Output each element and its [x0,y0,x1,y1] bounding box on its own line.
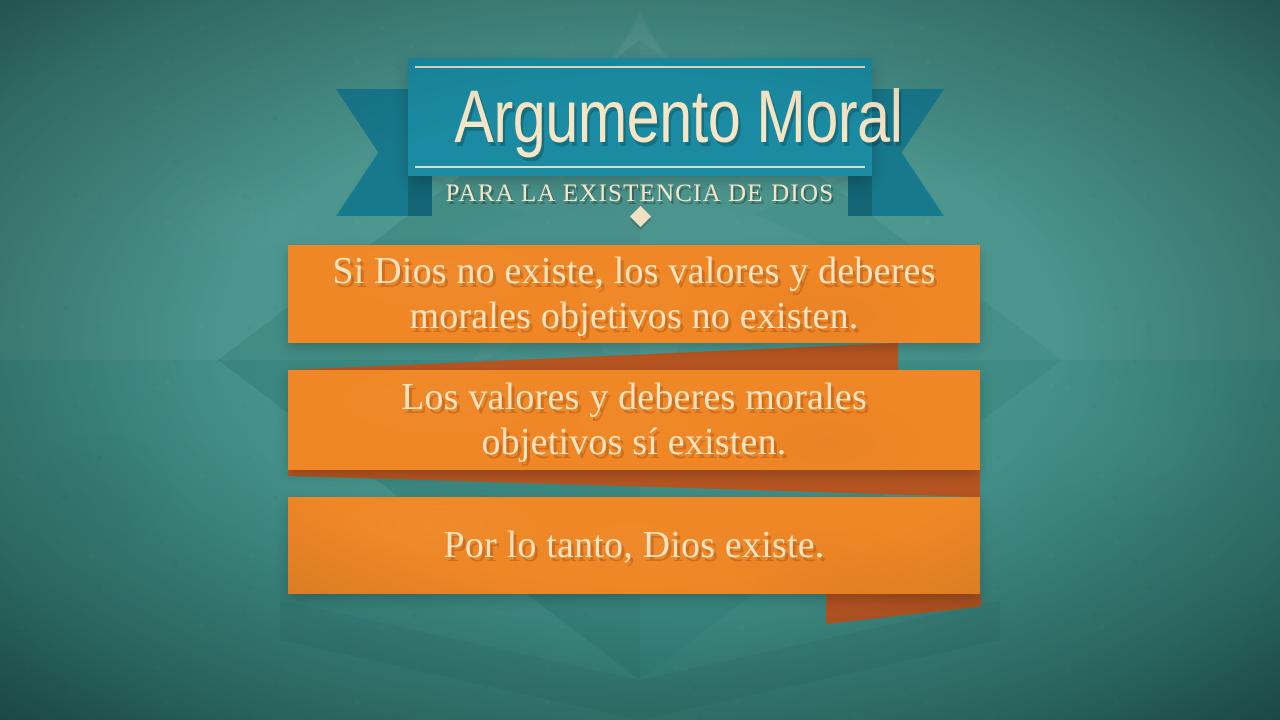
premise-banner-1: Si Dios no existe, los valores y deberes… [288,245,980,343]
premise-2-line-1: Los valores y deberes morales [401,376,867,418]
conclusion-text: Por lo tanto, Dios existe. [430,523,839,568]
premise-2-text: Los valores y deberes morales objetivos … [387,375,881,465]
premise-1-text: Si Dios no existe, los valores y deberes… [318,249,949,339]
premise-1-line-1: Si Dios no existe, los valores y deberes [332,250,935,292]
slide-canvas: Argumento Moral PARA LA EXISTENCIA DE DI… [0,0,1280,720]
background-vignette [0,0,1280,720]
premise-2-line-2: objetivos sí existen. [481,421,786,463]
premise-1-line-2: morales objetivos no existen. [409,295,858,337]
conclusion-line-1: Por lo tanto, Dios existe. [444,524,825,566]
premise-banner-2: Los valores y deberes morales objetivos … [288,370,980,470]
